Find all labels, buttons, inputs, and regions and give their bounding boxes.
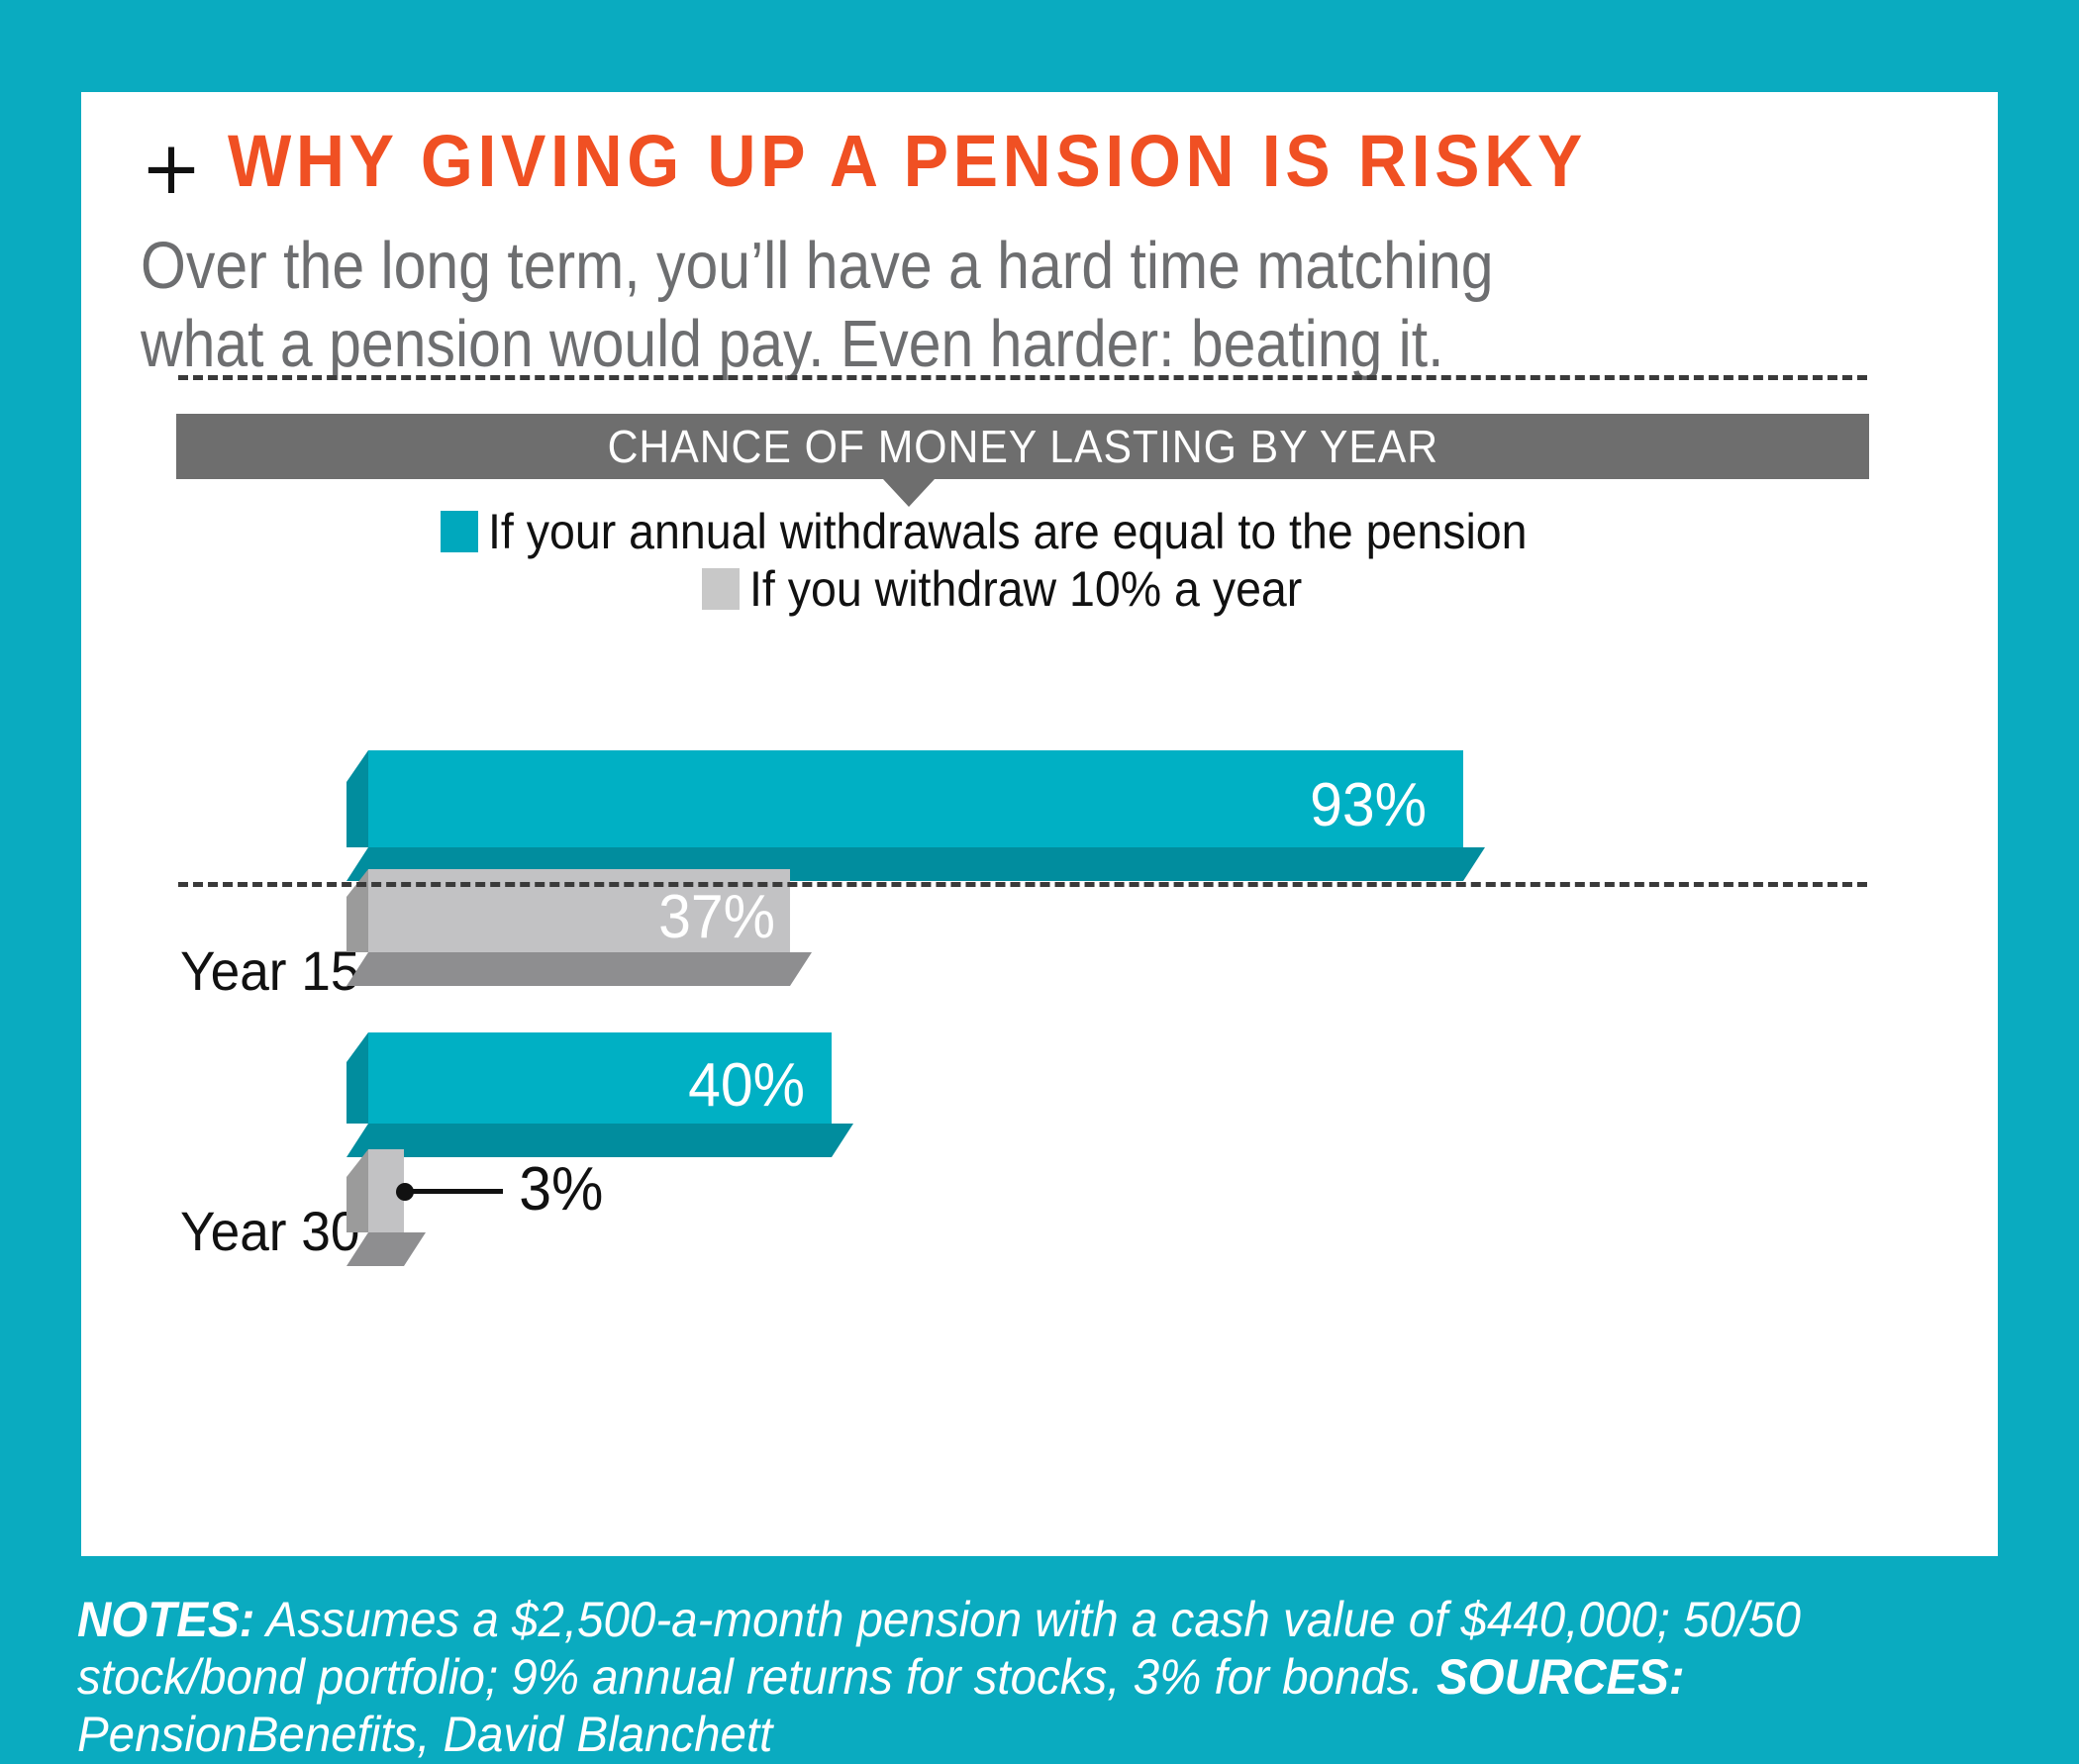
bar-shadow-bottom bbox=[368, 1232, 404, 1266]
bar-chart: Year 15 93% 37% Year 30 bbox=[81, 92, 1998, 1556]
notes-label: NOTES: bbox=[77, 1592, 254, 1647]
bar-corner-bottom-left bbox=[346, 1232, 368, 1266]
bar-year15-teal bbox=[346, 750, 1463, 847]
bar-corner-bottom-right bbox=[1463, 847, 1485, 881]
leader-line bbox=[408, 1189, 503, 1194]
sources-label: SOURCES: bbox=[1436, 1649, 1685, 1705]
bar-corner-bottom-left bbox=[346, 952, 368, 986]
bar-bevel-left bbox=[346, 750, 368, 847]
bar-value-year30-teal: 40% bbox=[688, 1050, 805, 1121]
bar-value-year15-teal: 93% bbox=[1310, 770, 1427, 840]
bar-shadow-bottom bbox=[368, 1124, 832, 1157]
sources-text: PensionBenefits, David Blanchett bbox=[77, 1707, 772, 1762]
footer-notes: NOTES: Assumes a $2,500-a-month pension … bbox=[77, 1591, 1921, 1763]
category-label-year-30: Year 30 bbox=[180, 1199, 359, 1263]
content-card: + WHY GIVING UP A PENSION IS RISKY Over … bbox=[81, 92, 1998, 1556]
bar-value-year15-gray: 37% bbox=[658, 882, 775, 952]
divider-middle bbox=[178, 882, 1867, 887]
category-label-year-15: Year 15 bbox=[180, 938, 359, 1003]
infographic-page: + WHY GIVING UP A PENSION IS RISKY Over … bbox=[0, 0, 2079, 1764]
bar-corner-bottom-right bbox=[404, 1232, 426, 1266]
bar-bevel-left bbox=[346, 1032, 368, 1124]
bar-value-year30-gray: 3% bbox=[519, 1154, 603, 1225]
bar-bevel-left bbox=[346, 1149, 368, 1232]
bar-corner-bottom-right bbox=[832, 1124, 853, 1157]
bar-shadow-bottom bbox=[368, 952, 790, 986]
bar-corner-bottom-right bbox=[790, 952, 812, 986]
bar-face bbox=[368, 750, 1463, 847]
